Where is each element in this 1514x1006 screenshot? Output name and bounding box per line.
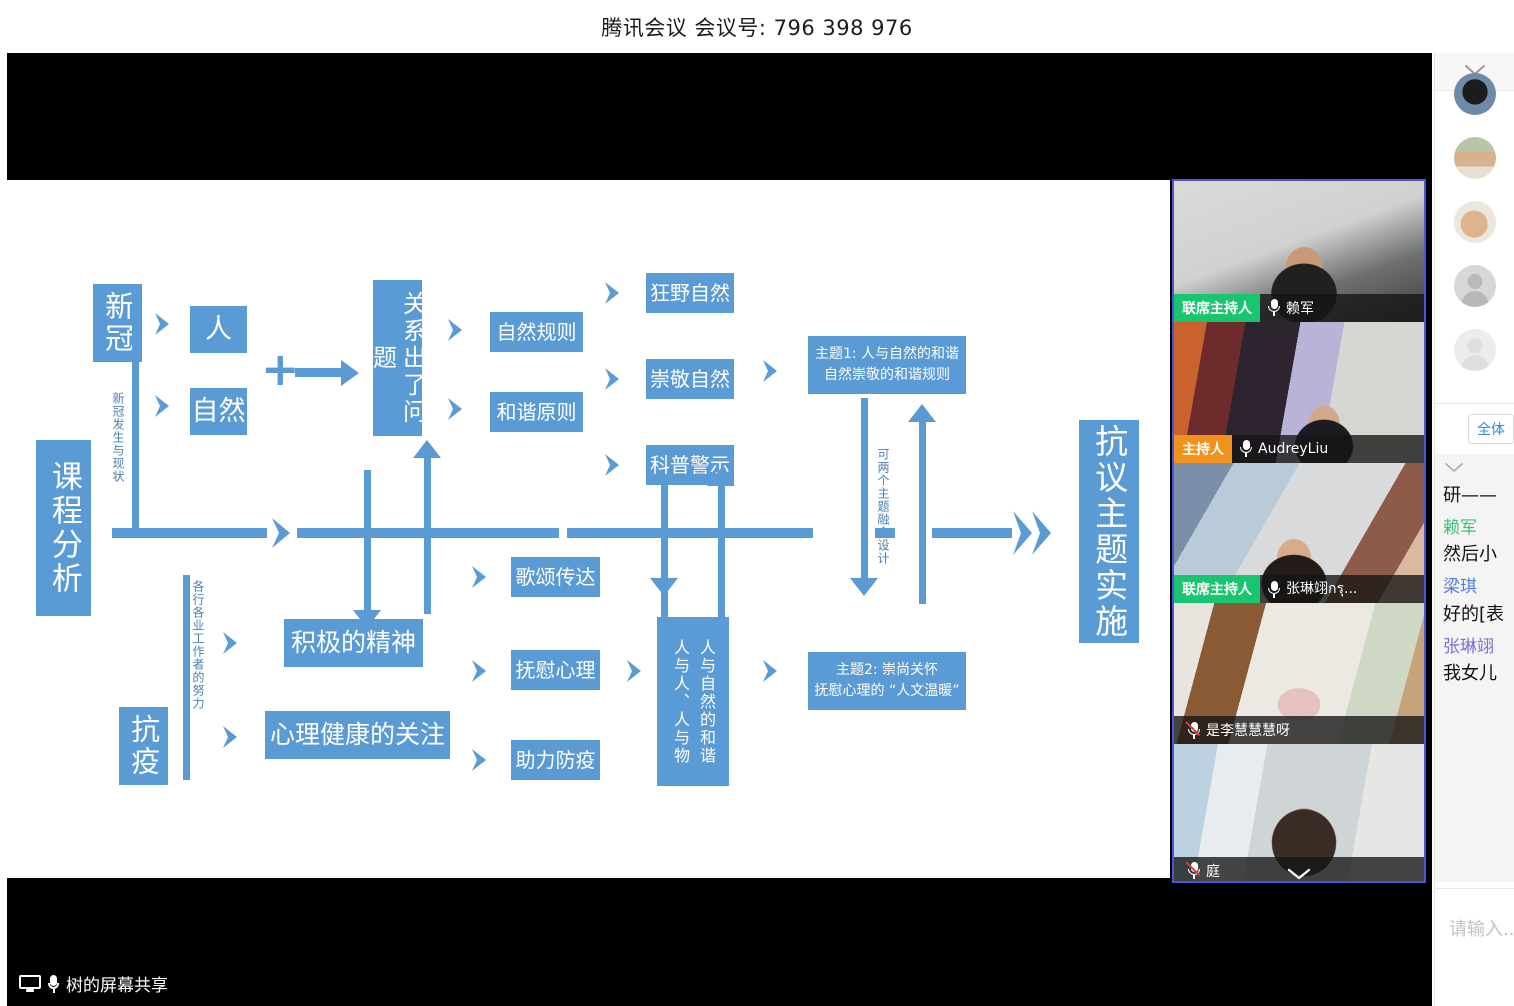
chevron-icon — [602, 366, 624, 392]
arrow-head-right — [341, 360, 359, 386]
node-ren: 人 — [190, 306, 247, 353]
chat-recipient-all-button[interactable]: 全体 — [1468, 414, 1514, 444]
annotation-xinguan-note: 新冠发生与现状 — [110, 392, 127, 483]
chevron-icon — [469, 564, 491, 590]
meeting-title: 腾讯会议 会议号: 796 398 976 — [601, 12, 913, 42]
chevron-icon — [624, 658, 646, 684]
participant-avatar-list[interactable] — [1435, 91, 1514, 371]
node-ziran-guize: 自然规则 — [490, 312, 583, 352]
node-zhuti-1: 主题1: 人与自然的和谐 自然崇敬的和谐规则 — [808, 336, 966, 394]
arrow-shaft — [919, 422, 926, 604]
node-xinli-jiankang: 心理健康的关注 — [265, 711, 450, 759]
participant-name: 张琳翊กรุ... — [1286, 578, 1357, 600]
participant-name-group: 张琳翊กรุ... — [1260, 578, 1357, 600]
participant-name: 庭 — [1206, 861, 1220, 881]
chat-message-sender: 赖军 — [1443, 516, 1514, 542]
chat-message-text: 然后小 — [1443, 541, 1514, 569]
node-guanxi-chuwenti: 关系出了问题 — [373, 280, 422, 436]
node-renyuren-renyuwu: 人与人、人与物 — [670, 639, 690, 765]
arrow-shaft — [295, 368, 345, 377]
chevron-icon — [760, 658, 782, 684]
video-tile[interactable]: 联席主持人 张琳翊กรุ... — [1174, 463, 1424, 604]
arrow-head-down — [850, 578, 878, 596]
microphone-muted-icon — [1188, 862, 1200, 879]
spine-segment — [567, 528, 813, 538]
video-tile[interactable]: 庭 — [1174, 744, 1424, 883]
video-tile-namebar: 联席主持人 张琳翊กรุ... — [1174, 575, 1424, 603]
node-fuwei-xinli: 抚慰心理 — [511, 650, 600, 690]
arrow-head-up — [908, 404, 936, 422]
chat-input-placeholder[interactable]: 请输入... — [1449, 919, 1514, 940]
chat-message: 梁琪 好的[表 — [1443, 575, 1514, 628]
chevron-icon — [445, 317, 467, 343]
chevron-icon — [152, 393, 174, 419]
chevron-down-icon[interactable] — [1443, 460, 1465, 472]
microphone-icon — [1268, 581, 1280, 598]
node-chongjing-ziran: 崇敬自然 — [646, 359, 734, 399]
zhuti2-line1: 主题2: 崇尚关怀 — [836, 662, 938, 680]
avatar[interactable] — [1454, 329, 1496, 371]
chevron-icon — [220, 630, 242, 656]
arrow-shaft — [424, 458, 431, 614]
node-kuangye-ziran: 狂野自然 — [646, 273, 734, 313]
arrow-shaft — [861, 398, 868, 580]
avatar[interactable] — [1454, 201, 1496, 243]
avatar[interactable] — [1454, 137, 1496, 179]
video-tile-namebar: 联席主持人 赖军 — [1174, 294, 1424, 322]
window-titlebar: 腾讯会议 会议号: 796 398 976 — [0, 0, 1514, 53]
role-badge: 联席主持人 — [1174, 294, 1260, 322]
node-plus: + — [261, 346, 300, 392]
node-zhuti-2: 主题2: 崇尚关怀 抚慰心理的 “人文温暖” — [808, 652, 966, 710]
video-tile-namebar: 是李慧慧慧呀 — [1174, 716, 1424, 744]
bracket-kangyi — [183, 575, 190, 780]
shared-slide: 课程分析 新冠 新冠发生与现状 人 自然 + 关系出了问题 — [7, 180, 1170, 878]
role-badge: 联席主持人 — [1174, 575, 1260, 603]
node-gesong-chuanda: 歌颂传达 — [511, 557, 600, 597]
node-ziran: 自然 — [190, 388, 247, 435]
chevron-icon — [602, 280, 624, 306]
participant-name: AudreyLiu — [1258, 441, 1328, 457]
chevron-icon — [269, 516, 291, 542]
microphone-muted-icon — [1188, 722, 1200, 739]
node-jiji-jingshen: 积极的精神 — [284, 619, 423, 667]
participant-name-group: 庭 — [1174, 861, 1220, 881]
chevron-icon — [469, 658, 491, 684]
chat-message: 张琳翊 我女儿 — [1443, 635, 1514, 688]
chevron-icon — [220, 724, 242, 750]
arrow-head-down — [650, 578, 678, 596]
zhuti1-line2: 自然崇敬的和谐规则 — [824, 367, 950, 385]
video-tile[interactable]: 联席主持人 赖军 — [1174, 181, 1424, 322]
screen-share-label: 树的屏幕共享 — [66, 971, 168, 996]
video-tile[interactable]: 是李慧慧慧呀 — [1174, 603, 1424, 744]
screen-share-status: 树的屏幕共享 — [19, 971, 168, 996]
spine-segment — [112, 528, 267, 538]
node-hexie-yuanze: 和谐原则 — [490, 392, 583, 432]
chat-recipient-row[interactable]: 全体 — [1435, 404, 1514, 454]
chat-message-text: 研—— — [1443, 482, 1514, 510]
chevron-icon — [760, 358, 782, 384]
chevron-icon — [445, 396, 467, 422]
node-kecheng-fenxi: 课程分析 — [36, 440, 91, 616]
annotation-merge-note: 可两个主题融合设计 — [875, 448, 892, 565]
chevron-icon — [1029, 508, 1051, 534]
arrow-head-up — [413, 440, 441, 458]
bracket-xinguan — [132, 290, 139, 530]
microphone-icon — [1268, 299, 1280, 316]
right-sidebar: 全体 研—— 赖军 然后小 梁琪 好的[表 张琳翊 我女儿 请输入... — [1434, 53, 1514, 1006]
app-root: 腾讯会议 会议号: 796 398 976 课程分析 新冠 新冠发生与现状 人 … — [0, 0, 1514, 1006]
chevron-icon — [602, 452, 624, 478]
chat-message-text: 好的[表 — [1443, 601, 1514, 629]
chat-message: 赖军 然后小 — [1443, 516, 1514, 569]
participant-name-group: 是李慧慧慧呀 — [1174, 720, 1290, 740]
annotation-kangyi-note: 各行各业工作者的努力 — [190, 580, 207, 710]
spine-segment — [932, 528, 1012, 538]
chat-message-sender: 梁琪 — [1443, 575, 1514, 601]
node-kangyi: 抗疫 — [119, 707, 168, 785]
chevron-icon — [152, 311, 174, 337]
microphone-icon — [48, 975, 59, 993]
chat-message-sender: 张琳翊 — [1443, 635, 1514, 661]
arrow-shaft — [364, 470, 371, 612]
chevron-icon — [469, 747, 491, 773]
arrow-head-up — [707, 468, 735, 486]
node-zhuli-fangyi: 助力防疫 — [511, 740, 600, 780]
participant-name-group: AudreyLiu — [1232, 440, 1328, 457]
avatar[interactable] — [1454, 73, 1496, 115]
role-badge: 主持人 — [1174, 435, 1232, 463]
participant-name: 是李慧慧慧呀 — [1206, 720, 1290, 740]
chat-input-area[interactable]: 请输入... — [1435, 888, 1514, 1006]
screen-share-icon — [19, 975, 41, 992]
node-kangyi-zhuti-shishi: 抗议主题实施 — [1079, 420, 1139, 643]
video-tile-namebar: 主持人 AudreyLiu — [1174, 435, 1424, 463]
spine-segment — [875, 528, 895, 538]
chevron-down-icon[interactable] — [1286, 867, 1312, 881]
node-renyu-hexie-group: 人与自然的和谐 人与人、人与物 — [657, 617, 729, 786]
chat-message: 研—— — [1443, 482, 1514, 510]
zhuti1-line1: 主题1: 人与自然的和谐 — [815, 346, 959, 364]
zhuti2-line2: 抚慰心理的 “人文温暖” — [815, 683, 960, 701]
chat-message-list[interactable]: 研—— 赖军 然后小 梁琪 好的[表 张琳翊 我女儿 — [1435, 454, 1514, 882]
participant-name: 赖军 — [1286, 298, 1314, 318]
microphone-icon — [1240, 440, 1252, 457]
node-renyu-ziran-hexie: 人与自然的和谐 — [696, 639, 716, 765]
video-filmstrip[interactable]: 联席主持人 赖军 主持人 AudreyLiu 联席主持人 — [1172, 179, 1426, 883]
avatar[interactable] — [1454, 265, 1496, 307]
video-tile[interactable]: 主持人 AudreyLiu — [1174, 322, 1424, 463]
participant-name-group: 赖军 — [1260, 298, 1314, 318]
chat-message-text: 我女儿 — [1443, 660, 1514, 688]
